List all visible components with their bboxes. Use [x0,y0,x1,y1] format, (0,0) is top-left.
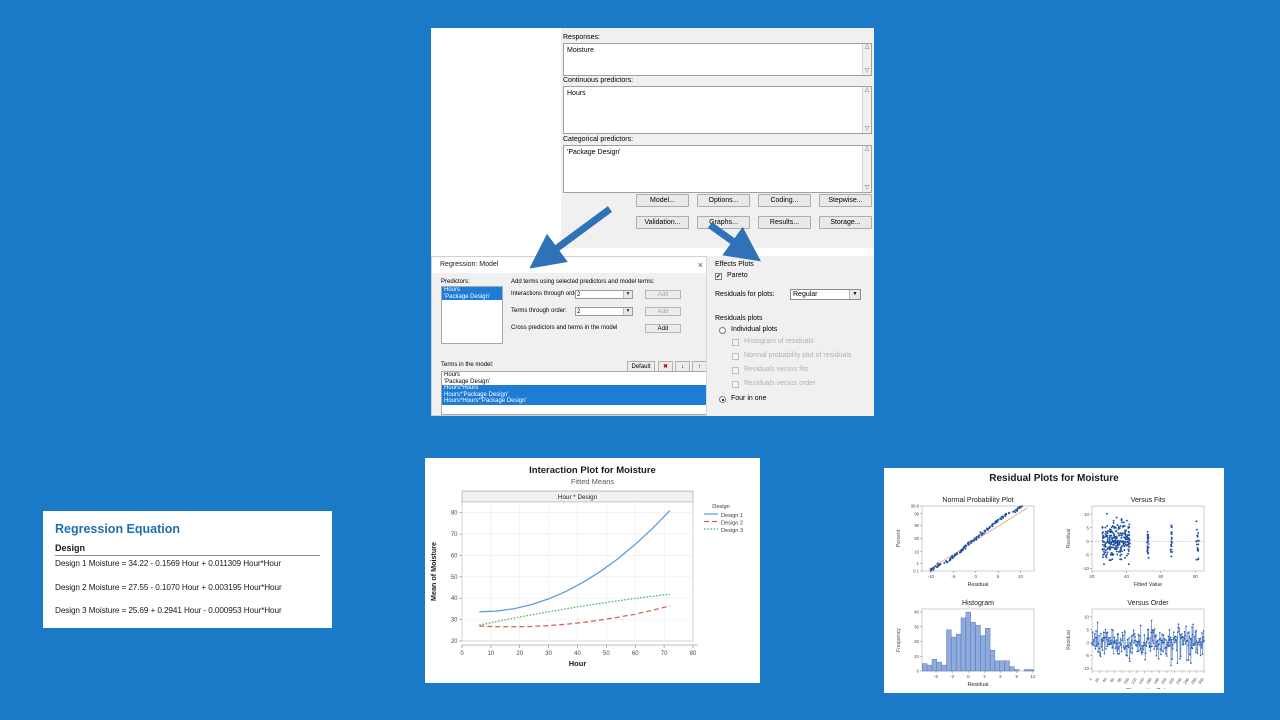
residual-plots-svg: Normal Probability Plot0.111050909999.9-… [884,484,1224,689]
residuals-for-plots-select[interactable]: Regular ▼ [790,289,861,300]
predictors-label: Predictors: [441,279,470,285]
svg-text:0: 0 [975,574,978,579]
svg-text:50: 50 [603,651,610,657]
svg-text:140: 140 [1137,676,1145,685]
svg-text:Frequency: Frequency [896,628,902,652]
scroll-down-icon[interactable]: ▽ [865,185,870,192]
regression-equation-row: Design 3 Moisture = 25.69 + 0.2941 Hour … [55,606,320,615]
svg-text:Versus Order: Versus Order [1127,600,1169,607]
svg-text:40: 40 [451,596,458,602]
svg-text:20: 20 [516,651,523,657]
regression-equation-row: Design 2 Moisture = 27.55 - 0.1070 Hour … [55,583,320,592]
residuals-versus-fits-label: Residuals versus fits [744,366,808,373]
list-item[interactable]: Hours*Hours [442,385,706,392]
svg-text:10: 10 [1084,512,1089,517]
svg-text:30: 30 [545,651,552,657]
effects-plots-header: Effects Plots [715,261,754,268]
residual-plots-card: Residual Plots for Moisture Normal Proba… [884,468,1224,693]
individual-plots-radio[interactable] [719,327,726,334]
svg-text:-10: -10 [928,574,935,579]
svg-text:-5: -5 [1085,653,1089,658]
scroll-down-icon[interactable]: ▽ [865,68,870,75]
svg-text:Design: Design [712,504,729,510]
field-group-continuous: Continuous predictors: Hours △ ▽ [561,76,874,134]
terms-through-order-value: 2 [577,309,580,315]
model-dialog-title: Regression: Model [440,261,498,268]
svg-text:120: 120 [1130,676,1138,685]
continuous-predictors-listbox[interactable]: Hours △ ▽ [563,86,872,134]
predictors-listbox[interactable]: Hours 'Package Design' [441,286,503,344]
svg-text:60: 60 [1158,574,1163,579]
svg-text:30: 30 [451,618,458,624]
close-icon[interactable]: × [698,259,703,271]
categorical-predictors-value: 'Package Design' [564,146,871,159]
pareto-label: Pareto [727,272,748,279]
chevron-down-icon[interactable]: ▼ [849,290,860,299]
dialog-button-row-1: Model... Options... Coding... Stepwise..… [561,194,874,207]
svg-text:60: 60 [632,651,639,657]
validation-button[interactable]: Validation... [636,216,689,229]
svg-text:60: 60 [1109,676,1116,683]
svg-text:5: 5 [1087,627,1090,632]
svg-text:99: 99 [914,511,919,516]
svg-text:Versus Fits: Versus Fits [1131,497,1166,504]
categorical-predictors-label: Categorical predictors: [563,135,874,144]
responses-listbox[interactable]: Moisture △ ▽ [563,43,872,76]
residuals-for-plots-value: Regular [793,291,818,298]
residuals-versus-order-checkbox[interactable] [732,381,739,388]
list-item[interactable]: Hours [442,372,706,379]
residuals-versus-order-label: Residuals versus order [744,380,816,387]
regression-model-dialog: Regression: Model × Predictors: Hours 'P… [431,256,714,416]
svg-text:0: 0 [917,669,920,674]
svg-text:Design 1: Design 1 [721,513,743,519]
regression-equation-group-header: Design [55,543,320,556]
svg-text:99.9: 99.9 [911,504,920,509]
svg-text:90: 90 [914,523,919,528]
terms-in-model-label: Terms in the model: [441,362,493,368]
svg-text:9: 9 [1016,674,1019,679]
svg-text:60: 60 [451,553,458,559]
svg-text:20: 20 [914,639,919,644]
interactions-through-order-value: 2 [577,292,580,298]
individual-plots-label: Individual plots [731,326,777,333]
pareto-checkbox[interactable]: ✔ [715,273,722,280]
svg-text:-3: -3 [950,674,954,679]
normal-probability-plot-checkbox[interactable] [732,353,739,360]
regression-equation-row: Design 1 Moisture = 34.22 - 0.1569 Hour … [55,559,320,568]
svg-text:300: 300 [1197,676,1205,685]
residuals-plots-header: Residuals plots [715,315,762,322]
svg-text:80: 80 [451,511,458,517]
svg-text:40: 40 [1101,676,1108,683]
svg-text:Histogram: Histogram [962,600,994,607]
scroll-up-icon[interactable]: △ [865,146,870,153]
field-group-categorical: Categorical predictors: 'Package Design'… [561,135,874,193]
residual-plots-title: Residual Plots for Moisture [884,473,1224,484]
svg-text:Residual: Residual [1066,630,1072,649]
normal-probability-plot-label: Normal probability plot of residuals [744,352,851,359]
svg-text:0: 0 [1087,640,1090,645]
svg-text:220: 220 [1167,676,1175,685]
regression-fields-panel: Responses: Moisture △ ▽ Continuous predi… [561,28,874,248]
chevron-down-icon[interactable]: ▼ [623,291,632,298]
chevron-down-icon[interactable]: ▼ [623,308,632,315]
svg-text:5: 5 [1087,525,1090,530]
coding-button[interactable]: Coding... [758,194,811,207]
list-item[interactable]: Hours*Hours*'Package Design' [442,398,706,405]
add-terms-button[interactable]: Add [645,307,681,316]
minitab-regression-dialog: Responses: Moisture △ ▽ Continuous predi… [431,28,874,416]
svg-text:30: 30 [914,624,919,629]
svg-text:200: 200 [1160,676,1168,685]
categorical-predictors-scrollbar[interactable]: △ ▽ [862,146,871,192]
list-item[interactable]: 'Package Design' [442,379,706,386]
svg-text:5: 5 [997,574,1000,579]
model-button[interactable]: Model... [636,194,689,207]
svg-text:40: 40 [1124,574,1129,579]
interactions-through-order-select[interactable]: 2 ▼ [575,290,633,299]
add-interactions-button[interactable]: Add [645,290,681,299]
svg-text:20: 20 [451,639,458,645]
svg-text:0: 0 [460,651,464,657]
histogram-of-residuals-label: Histogram of residuals [744,338,814,345]
svg-text:40: 40 [574,651,581,657]
continuous-predictors-label: Continuous predictors: [563,76,874,85]
svg-text:70: 70 [661,651,668,657]
four-in-one-radio[interactable] [719,396,726,403]
list-item[interactable]: 'Package Design' [442,294,502,301]
residuals-for-plots-label: Residuals for plots: [715,291,775,298]
stepwise-button[interactable]: Stepwise... [819,194,872,207]
svg-text:10: 10 [1084,614,1089,619]
page-title: Regression Equation [55,522,320,536]
svg-text:10: 10 [914,550,919,555]
svg-text:240: 240 [1175,676,1183,685]
svg-text:10: 10 [914,654,919,659]
four-in-one-label: Four in one [731,395,766,402]
svg-text:180: 180 [1152,676,1160,685]
svg-text:-5: -5 [951,574,955,579]
svg-text:Residual: Residual [968,682,989,688]
svg-text:Design 2: Design 2 [721,520,743,526]
svg-text:1: 1 [917,561,920,566]
svg-text:-6: -6 [934,674,938,679]
continuous-predictors-scrollbar[interactable]: △ ▽ [862,87,871,133]
svg-text:-10: -10 [1083,566,1090,571]
svg-text:Residual: Residual [968,582,989,588]
svg-text:80: 80 [1193,574,1198,579]
graphs-button[interactable]: Graphs... [697,216,750,229]
scroll-up-icon[interactable]: △ [865,44,870,51]
svg-text:0: 0 [967,674,970,679]
svg-text:50: 50 [914,536,919,541]
field-group-responses: Responses: Moisture △ ▽ [561,33,874,76]
svg-text:70: 70 [451,532,458,538]
svg-text:10: 10 [1018,574,1023,579]
responses-value: Moisture [564,44,871,57]
svg-text:Design 3: Design 3 [721,528,743,534]
terms-through-order-select[interactable]: 2 ▼ [575,307,633,316]
responses-scrollbar[interactable]: △ ▽ [862,44,871,75]
scroll-down-icon[interactable]: ▽ [865,126,870,133]
terms-in-model-listbox[interactable]: Hours 'Package Design' Hours*Hours Hours… [441,371,707,415]
svg-text:Fitted Value: Fitted Value [1134,582,1162,588]
histogram-of-residuals-checkbox[interactable] [732,339,739,346]
svg-text:Mean of Moisture: Mean of Moisture [429,542,438,601]
storage-button[interactable]: Storage... [819,216,872,229]
interaction-plot-title: Interaction Plot for Moisture [425,465,760,476]
interactions-through-order-label: Interactions through order: [511,291,581,297]
list-item[interactable]: Hours*'Package Design' [442,392,706,399]
responses-label: Responses: [563,33,874,42]
residuals-versus-fits-checkbox[interactable] [732,367,739,374]
terms-through-order-label: Terms through order: [511,308,567,314]
dialog-button-row-2: Validation... Graphs... Results... Stora… [561,216,874,229]
cross-predictors-label: Cross predictors and terms in the model [511,325,617,331]
svg-text:-10: -10 [1083,666,1090,671]
svg-text:Observation Order: Observation Order [1126,688,1171,689]
continuous-predictors-value: Hours [564,87,871,100]
regression-equation-card: Regression Equation Design Design 1 Mois… [43,511,332,628]
results-button[interactable]: Results... [758,216,811,229]
svg-text:260: 260 [1182,676,1190,685]
effects-plots-panel: Effects Plots ✔ Pareto Residuals for plo… [706,256,874,416]
svg-text:Normal Probability Plot: Normal Probability Plot [942,497,1013,504]
interaction-plot-subtitle: Fitted Means [425,477,760,486]
svg-text:20: 20 [1090,574,1095,579]
svg-text:6: 6 [999,674,1002,679]
svg-text:Percent: Percent [896,529,902,547]
interaction-plot-svg: Hour * Design203040506070800102030405060… [425,486,760,678]
svg-text:100: 100 [1122,676,1130,685]
svg-text:Hour: Hour [569,659,587,668]
svg-text:0.1: 0.1 [913,569,919,574]
add-cross-button[interactable]: Add [645,324,681,333]
svg-text:20: 20 [1094,676,1101,683]
categorical-predictors-listbox[interactable]: 'Package Design' △ ▽ [563,145,872,193]
interaction-plot-card: Interaction Plot for Moisture Fitted Mea… [425,458,760,683]
options-button[interactable]: Options... [697,194,750,207]
scroll-up-icon[interactable]: △ [865,87,870,94]
add-terms-header: Add terms using selected predictors and … [511,279,654,285]
svg-text:10: 10 [488,651,495,657]
svg-text:40: 40 [914,610,919,615]
svg-text:50: 50 [451,575,458,581]
svg-text:12: 12 [1030,674,1035,679]
svg-text:Hour * Design: Hour * Design [558,494,598,501]
svg-text:0: 0 [1087,539,1090,544]
model-dialog-titlebar: Regression: Model × [432,257,713,273]
svg-text:80: 80 [690,651,697,657]
svg-text:3: 3 [983,674,986,679]
svg-text:Residual: Residual [1066,529,1072,548]
svg-text:-5: -5 [1085,552,1089,557]
svg-text:160: 160 [1145,676,1153,685]
